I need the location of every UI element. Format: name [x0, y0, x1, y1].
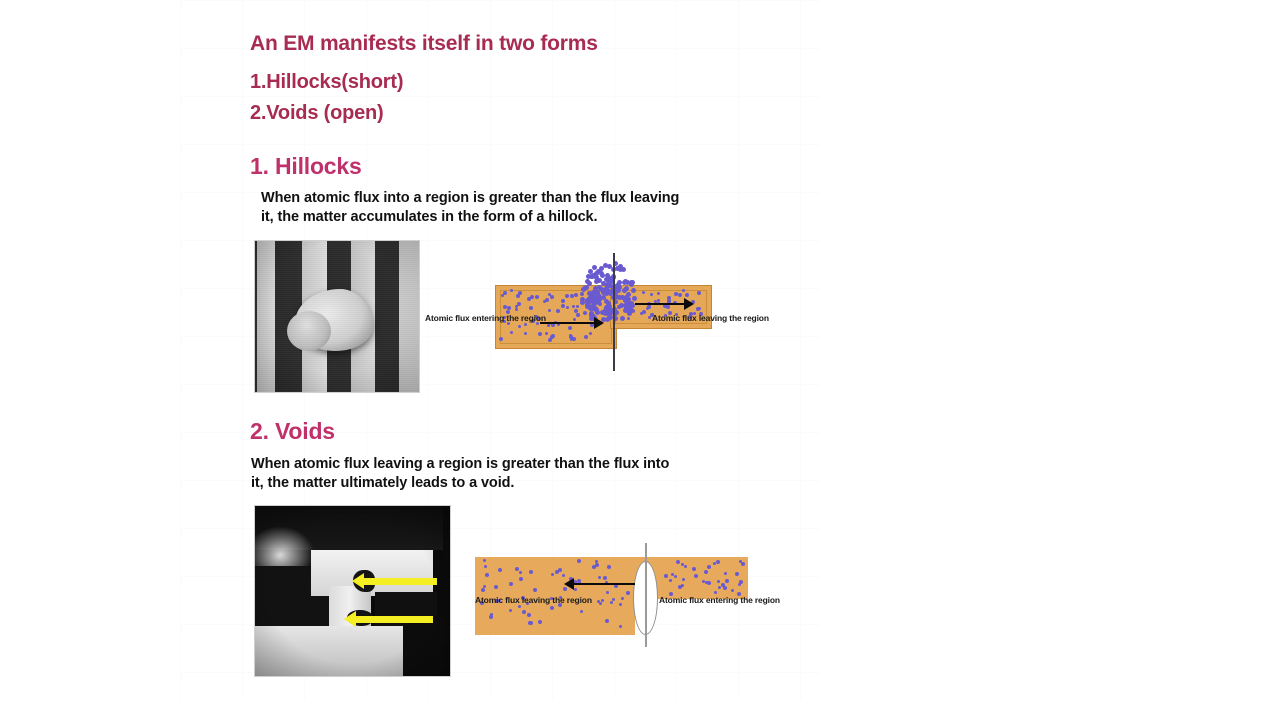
- atom-dot: [607, 276, 612, 281]
- bullet-item-voids: 2.Voids (open): [250, 102, 384, 125]
- atom-dot: [618, 267, 623, 272]
- void-flux-label-entering: Atomic flux entering the region: [659, 595, 780, 605]
- atom-dot: [588, 269, 593, 274]
- section-body-hillocks: When atomic flux into a region is greate…: [261, 189, 679, 227]
- bullet-item-hillocks: 1.Hillocks(short): [250, 71, 403, 94]
- atom-dot: [605, 283, 610, 288]
- section-title-hillocks: 1. Hillocks: [250, 153, 362, 180]
- section-title-voids: 2. Voids: [250, 418, 335, 445]
- grain-boundary-line: [613, 253, 615, 371]
- atom-dot: [627, 311, 632, 316]
- void-flux-label-leaving: Atomic flux leaving the region: [475, 595, 592, 605]
- atom-dot: [631, 288, 636, 293]
- image-vignette: [255, 241, 419, 392]
- atom-dot: [599, 266, 604, 271]
- void-schematic: Atomic flux leaving the region Atomic fl…: [465, 545, 805, 650]
- flux-label-entering: Atomic flux entering the region: [425, 313, 546, 323]
- atom-dot: [608, 291, 613, 296]
- hillock-schematic: Atomic flux entering the region Atomic f…: [420, 265, 800, 385]
- void-grain-boundary-line: [645, 543, 647, 647]
- void-image-vignette: [255, 506, 450, 676]
- page-title: An EM manifests itself in two forms: [250, 32, 598, 56]
- sem-void-micrograph: [254, 505, 451, 677]
- atom-dot: [594, 279, 599, 284]
- hillock-accumulation-mound: [580, 253, 632, 317]
- sem-hillock-micrograph: [254, 240, 420, 393]
- atom-dot: [629, 282, 634, 287]
- flux-arrow-entering: [540, 322, 595, 324]
- flux-arrow-leaving: [635, 303, 685, 305]
- atom-dot: [587, 281, 592, 286]
- atom-dot: [597, 285, 602, 290]
- void-flux-arrow-leaving: [573, 583, 635, 585]
- section-body-voids: When atomic flux leaving a region is gre…: [251, 455, 669, 493]
- flux-label-leaving: Atomic flux leaving the region: [652, 313, 769, 323]
- atom-dot: [590, 296, 595, 301]
- atom-dot: [580, 297, 585, 302]
- slide-canvas: An EM manifests itself in two forms 1.Hi…: [0, 0, 1280, 720]
- atom-dot: [624, 295, 629, 300]
